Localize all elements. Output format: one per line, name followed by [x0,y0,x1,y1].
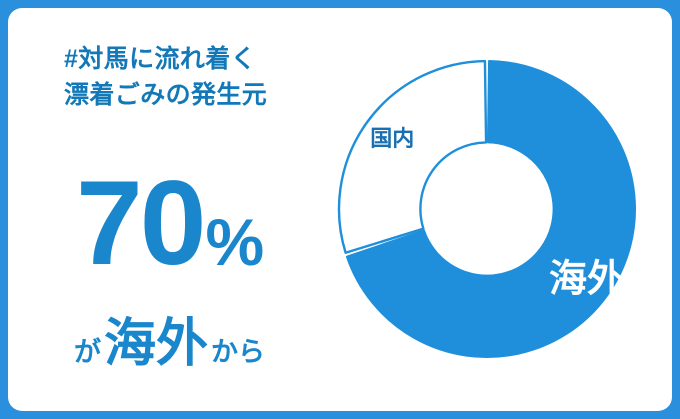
headline-line-1: #対馬に流れ着く [64,42,344,78]
headline: #対馬に流れ着く 漂着ごみの発生元 [64,42,344,113]
stat-figure: 70 % [76,172,264,275]
card-surface: #対馬に流れ着く 漂着ごみの発生元 70 % が 海外 から 国内 海 [8,8,672,411]
stat-percent-symbol: % [205,212,264,273]
tagline-emphasis: 海外 [104,318,208,370]
text-panel: #対馬に流れ着く 漂着ごみの発生元 70 % が 海外 から [64,42,344,372]
tagline-suffix: から [211,339,265,366]
pie-label-domestic: 国内 [370,126,414,151]
pie-slice-domestic [339,61,486,253]
infographic-canvas: #対馬に流れ着く 漂着ごみの発生元 70 % が 海外 から 国内 海 [0,0,680,419]
donut-chart: 国内 海外 [333,55,641,363]
tagline: が 海外 から [74,318,265,370]
tagline-prefix: が [74,339,101,366]
headline-line-2: 漂着ごみの発生元 [64,78,344,114]
pie-label-overseas: 海外 [549,259,625,301]
donut-chart-svg: 国内 海外 [333,55,641,363]
stat-number: 70 [76,172,203,275]
